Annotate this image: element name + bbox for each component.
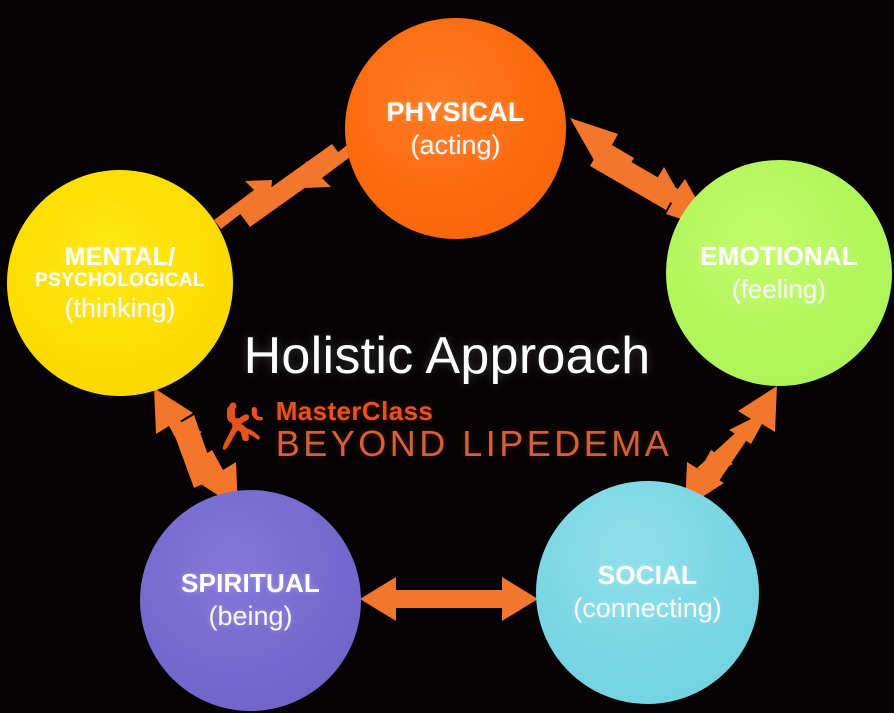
node-emotional[interactable]: EMOTIONAL (feeling) <box>666 160 892 386</box>
node-spiritual[interactable]: SPIRITUAL (being) <box>140 490 361 711</box>
node-social-subtitle: (connecting) <box>573 594 722 622</box>
node-spiritual-subtitle: (being) <box>208 602 292 630</box>
node-spiritual-title: SPIRITUAL <box>181 570 320 597</box>
connector-social-spiritual-arrow <box>360 575 538 623</box>
node-mental-subtitle: (thinking) <box>64 294 175 322</box>
node-physical-title: PHYSICAL <box>386 98 524 126</box>
node-mental-title-line2: PSYCHOLOGICAL <box>35 271 205 291</box>
holistic-approach-diagram: PHYSICAL (acting) MENTAL/ PSYCHOLOGICAL … <box>0 0 894 713</box>
node-mental-psychological[interactable]: MENTAL/ PSYCHOLOGICAL (thinking) <box>7 170 233 396</box>
node-emotional-subtitle: (feeling) <box>732 276 826 303</box>
logo-primary-text: MasterClass <box>276 398 434 424</box>
node-social[interactable]: SOCIAL (connecting) <box>536 481 759 704</box>
node-social-title: SOCIAL <box>598 562 697 589</box>
node-mental-title: MENTAL/ <box>65 244 176 270</box>
node-physical[interactable]: PHYSICAL (acting) <box>345 18 566 239</box>
connector-spiritual-mental-arrow <box>140 388 244 508</box>
masterclass-logo: MasterClass BEYOND LIPEDEMA <box>222 398 673 462</box>
node-physical-subtitle: (acting) <box>410 131 500 159</box>
connector-emotional-social-arrow <box>681 386 785 508</box>
node-emotional-title: EMOTIONAL <box>700 243 858 270</box>
logo-secondary-text: BEYOND LIPEDEMA <box>276 426 673 462</box>
connector-mental-physical-arrow <box>214 132 362 238</box>
logo-wordmark: MasterClass BEYOND LIPEDEMA <box>276 398 673 462</box>
